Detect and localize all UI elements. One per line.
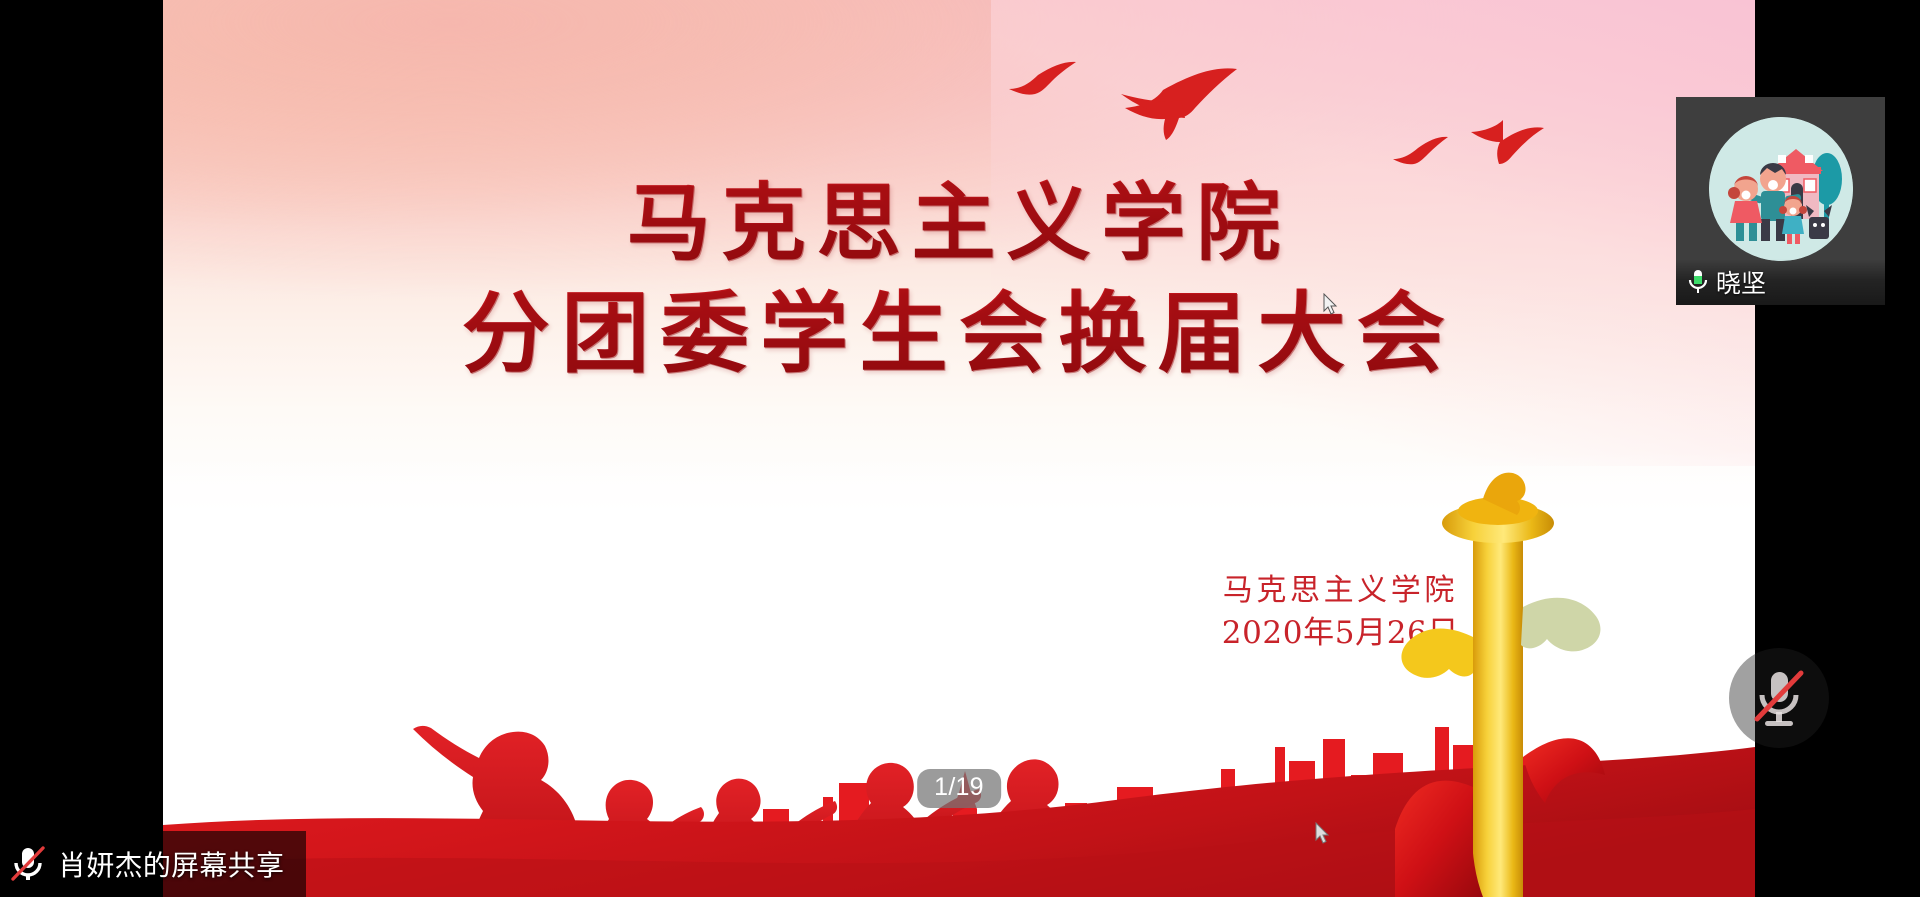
mute-toggle-button[interactable] xyxy=(1729,648,1829,748)
participant-video-thumbnail[interactable]: 晓坚 xyxy=(1676,97,1885,305)
zoom-meeting-window: 马克思主义学院 分团委学生会换届大会 马克思主义学院 2020年5月26日 xyxy=(0,0,1920,897)
participant-name: 晓坚 xyxy=(1716,264,1766,300)
microphone-icon[interactable] xyxy=(1685,267,1711,297)
huabiao-column-decoration xyxy=(1395,457,1605,897)
shared-screen-slide[interactable]: 马克思主义学院 分团委学生会换届大会 马克思主义学院 2020年5月26日 xyxy=(163,0,1755,897)
avatar xyxy=(1709,117,1853,261)
slide-page-indicator: 1/19 xyxy=(917,769,1001,808)
thumbnail-footer: 晓坚 xyxy=(1676,259,1885,305)
screen-share-status-bar: 肖妍杰的屏幕共享 xyxy=(0,831,306,897)
family-house-avatar-icon xyxy=(1709,117,1853,261)
screen-share-label: 肖妍杰的屏幕共享 xyxy=(58,844,284,884)
microphone-muted-icon xyxy=(1749,665,1809,731)
microphone-muted-icon[interactable] xyxy=(8,843,48,885)
